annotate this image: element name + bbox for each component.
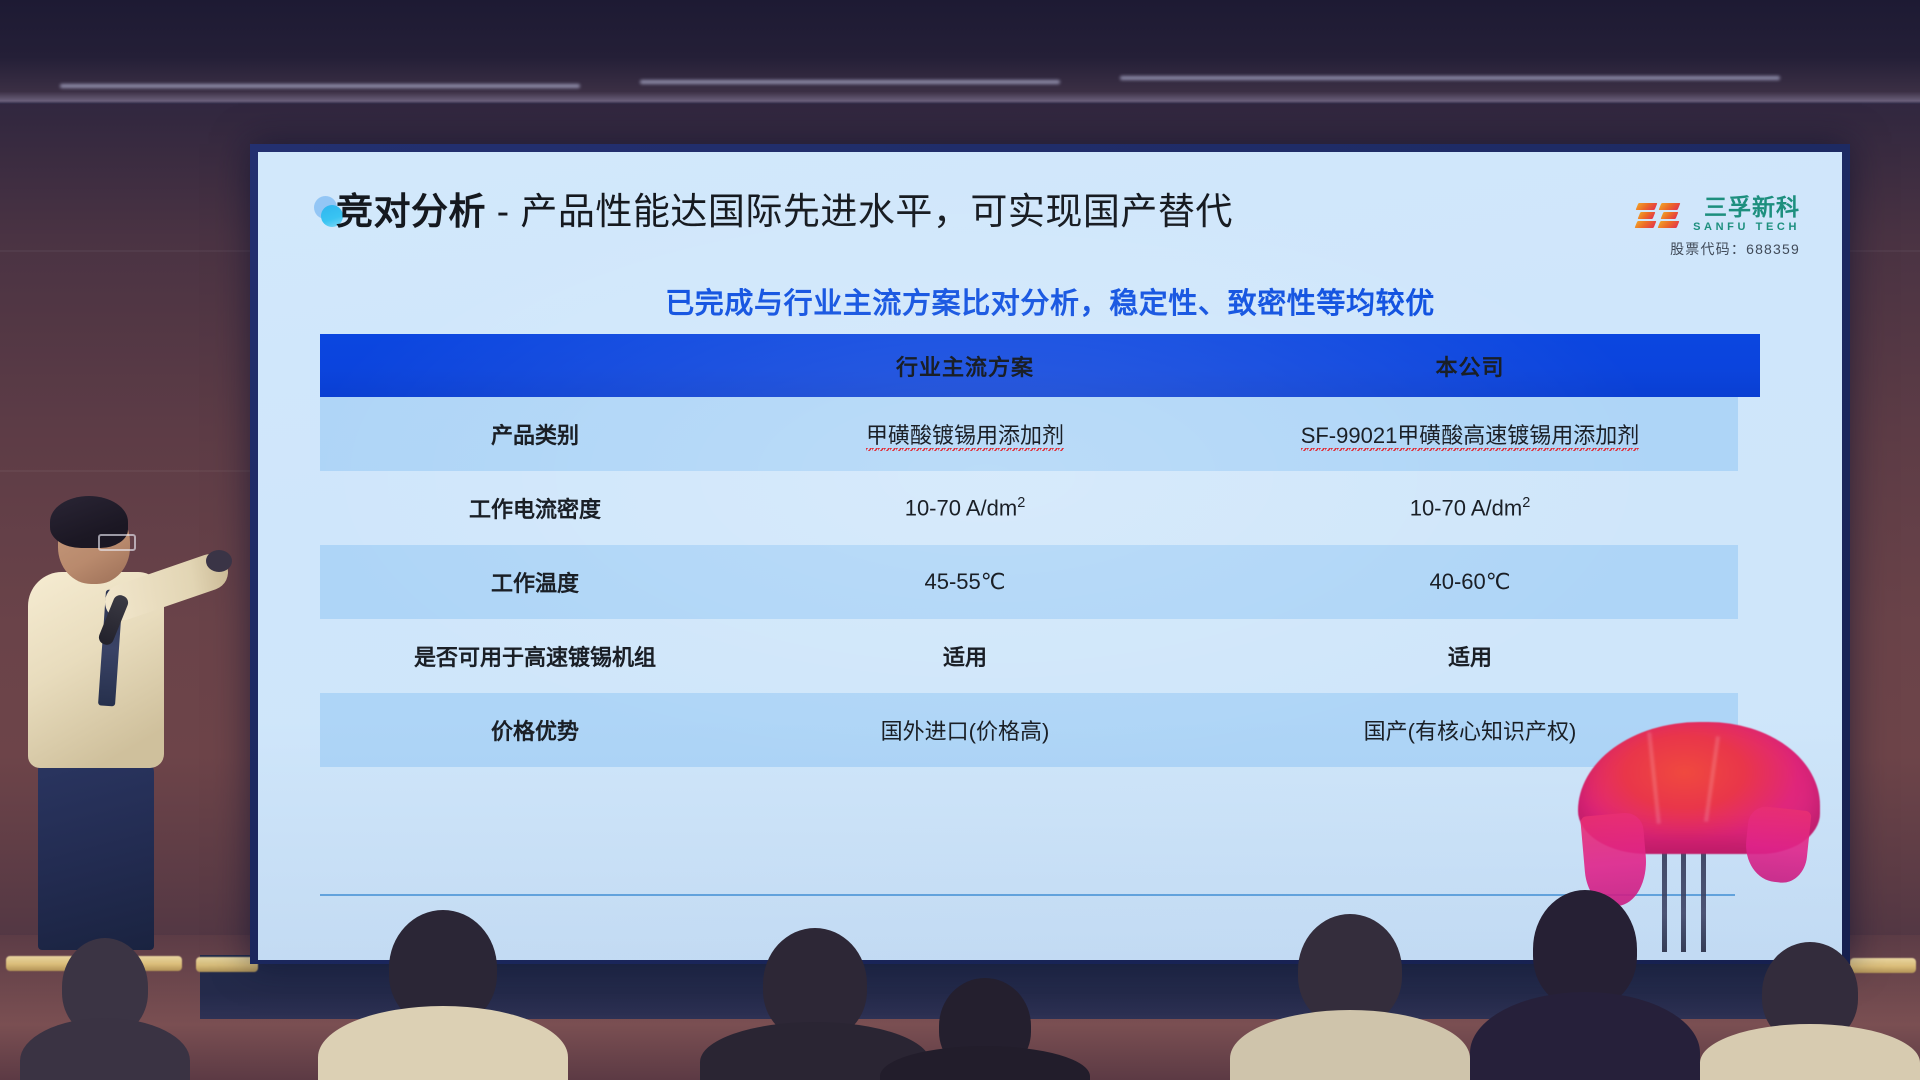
comparison-table: 行业主流方案 本公司 产品类别 甲磺酸镀锡用添加剂 SF-99021甲磺酸高速镀… bbox=[320, 334, 1760, 767]
wall-panel-seam bbox=[1850, 250, 1920, 252]
ceiling-light-strip bbox=[60, 84, 580, 88]
table-cell-company: 40-60℃ bbox=[1180, 569, 1760, 595]
slide-title-keyword: 竞对分析 bbox=[336, 191, 486, 232]
brand-name-en: SANFU TECH bbox=[1693, 222, 1800, 233]
stage-foot-light bbox=[196, 957, 258, 972]
audience-shoulders bbox=[880, 1046, 1090, 1080]
slide-header: 竞对分析 - 产品性能达国际先进水平，可实现国产替代 三孚新科 SANFU TE… bbox=[258, 182, 1842, 248]
table-cell-label: 工作温度 bbox=[320, 566, 750, 598]
ceiling-light-strip bbox=[1120, 76, 1780, 80]
brand-stock-code: 股票代码：688359 bbox=[1542, 239, 1800, 259]
brand-name-cn: 三孚新科 bbox=[1693, 196, 1800, 219]
ceiling-beam bbox=[0, 0, 1920, 104]
audience-shoulders bbox=[318, 1006, 568, 1080]
audience-member bbox=[1470, 890, 1700, 1080]
table-row: 价格优势 国外进口(价格高) 国产(有核心知识产权) bbox=[320, 693, 1760, 767]
audience-member bbox=[880, 960, 1090, 1080]
slide-subtitle: 已完成与行业主流方案比对分析，稳定性、致密性等均较优 bbox=[258, 280, 1842, 322]
audience-shoulders bbox=[1230, 1010, 1470, 1080]
table-header-cell-company: 本公司 bbox=[1180, 350, 1760, 382]
audience-member bbox=[318, 910, 568, 1080]
sanfu-logo-mark-icon bbox=[1636, 200, 1682, 230]
table-cell-mainstream: 适用 bbox=[750, 640, 1180, 672]
presenter-legs bbox=[38, 760, 154, 950]
wall-panel-seam bbox=[0, 470, 250, 472]
table-cell-company: 适用 bbox=[1180, 640, 1760, 672]
audience-shoulders bbox=[1470, 992, 1700, 1080]
presenter-glasses-icon bbox=[98, 534, 136, 551]
audience-head bbox=[1533, 890, 1637, 1008]
table-cell-label: 是否可用于高速镀锡机组 bbox=[320, 640, 750, 672]
screenshot-stage: 竞对分析 - 产品性能达国际先进水平，可实现国产替代 三孚新科 SANFU TE… bbox=[0, 0, 1920, 1080]
table-header-row: 行业主流方案 本公司 bbox=[320, 334, 1760, 397]
audience-member bbox=[1230, 912, 1470, 1080]
audience-shoulders bbox=[20, 1018, 190, 1080]
slide-title-rest: - 产品性能达国际先进水平，可实现国产替代 bbox=[486, 191, 1233, 232]
audience-shoulders bbox=[1700, 1024, 1920, 1080]
table-header-cell-mainstream: 行业主流方案 bbox=[750, 350, 1180, 382]
wall-panel-seam bbox=[0, 250, 250, 252]
table-cell-mainstream: 国外进口(价格高) bbox=[750, 714, 1180, 746]
table-cell-label: 价格优势 bbox=[320, 714, 750, 746]
table-cell-label: 工作电流密度 bbox=[320, 492, 750, 524]
audience-member bbox=[20, 930, 190, 1080]
table-cell-mainstream: 10-70 A/dm bbox=[905, 495, 1018, 520]
presenter-speaker bbox=[10, 498, 240, 948]
table-row: 工作温度 45-55℃ 40-60℃ bbox=[320, 545, 1760, 619]
table-row: 是否可用于高速镀锡机组 适用 适用 bbox=[320, 619, 1760, 693]
ceiling-light-strip bbox=[640, 80, 1060, 84]
table-cell-company: SF-99021甲磺酸高速镀锡用添加剂 bbox=[1301, 423, 1640, 451]
table-cell-mainstream: 甲磺酸镀锡用添加剂 bbox=[866, 423, 1064, 451]
table-cell-label: 产品类别 bbox=[320, 418, 750, 450]
table-row: 产品类别 甲磺酸镀锡用添加剂 SF-99021甲磺酸高速镀锡用添加剂 bbox=[320, 397, 1760, 471]
table-cell-company: 10-70 A/dm bbox=[1410, 495, 1523, 520]
company-logo: 三孚新科 SANFU TECH 股票代码：688359 bbox=[1542, 196, 1800, 259]
slide-title: 竞对分析 - 产品性能达国际先进水平，可实现国产替代 bbox=[336, 188, 1233, 236]
audience-member bbox=[1700, 930, 1920, 1080]
unit-superscript: 2 bbox=[1522, 495, 1530, 511]
table-row: 工作电流密度 10-70 A/dm2 10-70 A/dm2 bbox=[320, 471, 1760, 545]
presenter-hand bbox=[206, 550, 232, 572]
presentation-slide: 竞对分析 - 产品性能达国际先进水平，可实现国产替代 三孚新科 SANFU TE… bbox=[258, 152, 1842, 960]
table-cell-company: 国产(有核心知识产权) bbox=[1180, 714, 1760, 746]
table-cell-mainstream: 45-55℃ bbox=[750, 569, 1180, 595]
unit-superscript: 2 bbox=[1017, 495, 1025, 511]
